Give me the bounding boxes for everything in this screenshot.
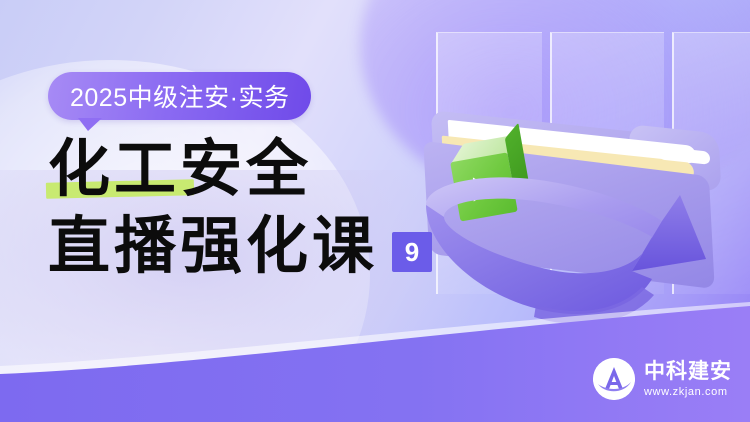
episode-number-label: 9 [405, 239, 419, 265]
zkjan-logo-icon [593, 358, 635, 400]
episode-number-badge: 9 [392, 232, 432, 272]
brand-name: 中科建安 [644, 361, 732, 382]
brand-website: www.zkjan.com [644, 387, 732, 398]
badge-tail [78, 118, 102, 131]
course-category-badge: 2025中级注安·实务 [48, 72, 311, 120]
brand-logo-text: 中科建安 www.zkjan.com [644, 361, 732, 398]
course-category-label: 2025中级注安·实务 [70, 78, 289, 114]
brand-logo: 中科建安 www.zkjan.com [593, 358, 732, 400]
course-title-secondary: 直播强化课 [48, 213, 378, 280]
title-line-1: 化工安全 [48, 136, 468, 203]
title-line-2: 直播强化课 9 [48, 213, 468, 280]
headline-block: 2025中级注安·实务 化工安全 直播强化课 9 [48, 72, 468, 280]
course-title-primary: 化工安全 [48, 136, 312, 203]
course-banner: 2025中级注安·实务 化工安全 直播强化课 9 中科建安 www.zkj [0, 0, 750, 422]
